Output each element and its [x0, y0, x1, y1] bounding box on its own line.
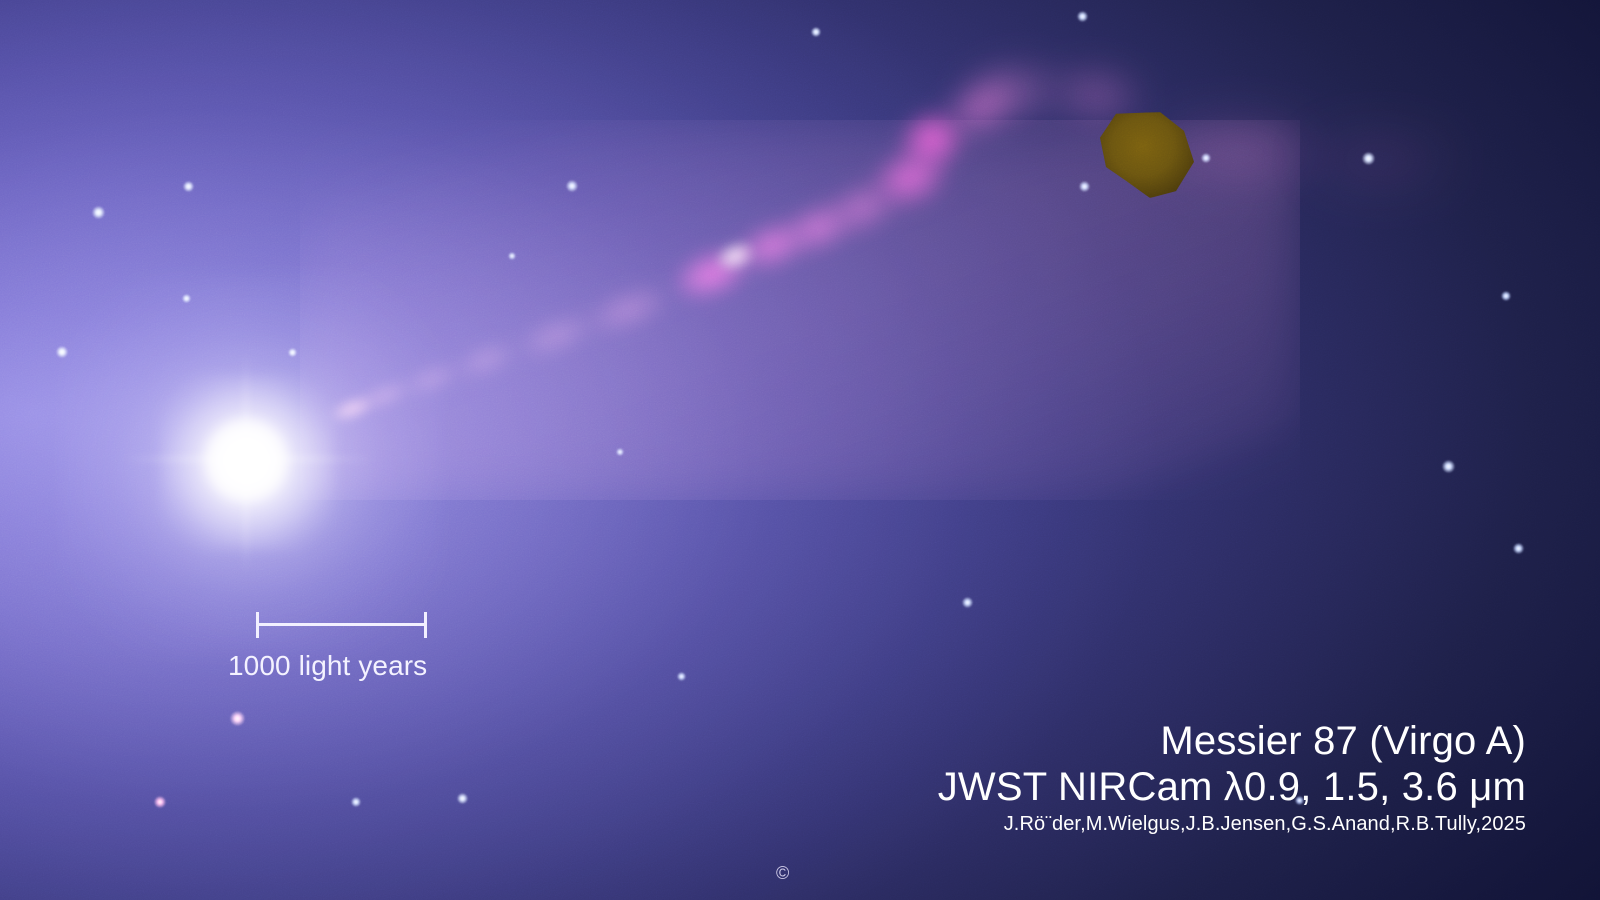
- scale-bar-line: [256, 623, 427, 626]
- caption-block: Messier 87 (Virgo A) JWST NIRCam λ0.9, 1…: [938, 718, 1526, 837]
- astronomy-image-viewport: 1000 light years Messier 87 (Virgo A) JW…: [0, 0, 1600, 900]
- scale-bar-cap-right: [424, 612, 427, 638]
- scale-bar-label: 1000 light years: [228, 650, 427, 682]
- scale-bar: [256, 612, 427, 638]
- copyright-icon: ©: [776, 864, 789, 882]
- annotation-overlay: 1000 light years Messier 87 (Virgo A) JW…: [0, 0, 1600, 900]
- instrument-wavelength-subtitle: JWST NIRCam λ0.9, 1.5, 3.6 μm: [938, 764, 1526, 810]
- object-name-title: Messier 87 (Virgo A): [938, 718, 1526, 764]
- author-credits: J.Rö¨der,M.Wielgus,J.B.Jensen,G.S.Anand,…: [938, 811, 1526, 837]
